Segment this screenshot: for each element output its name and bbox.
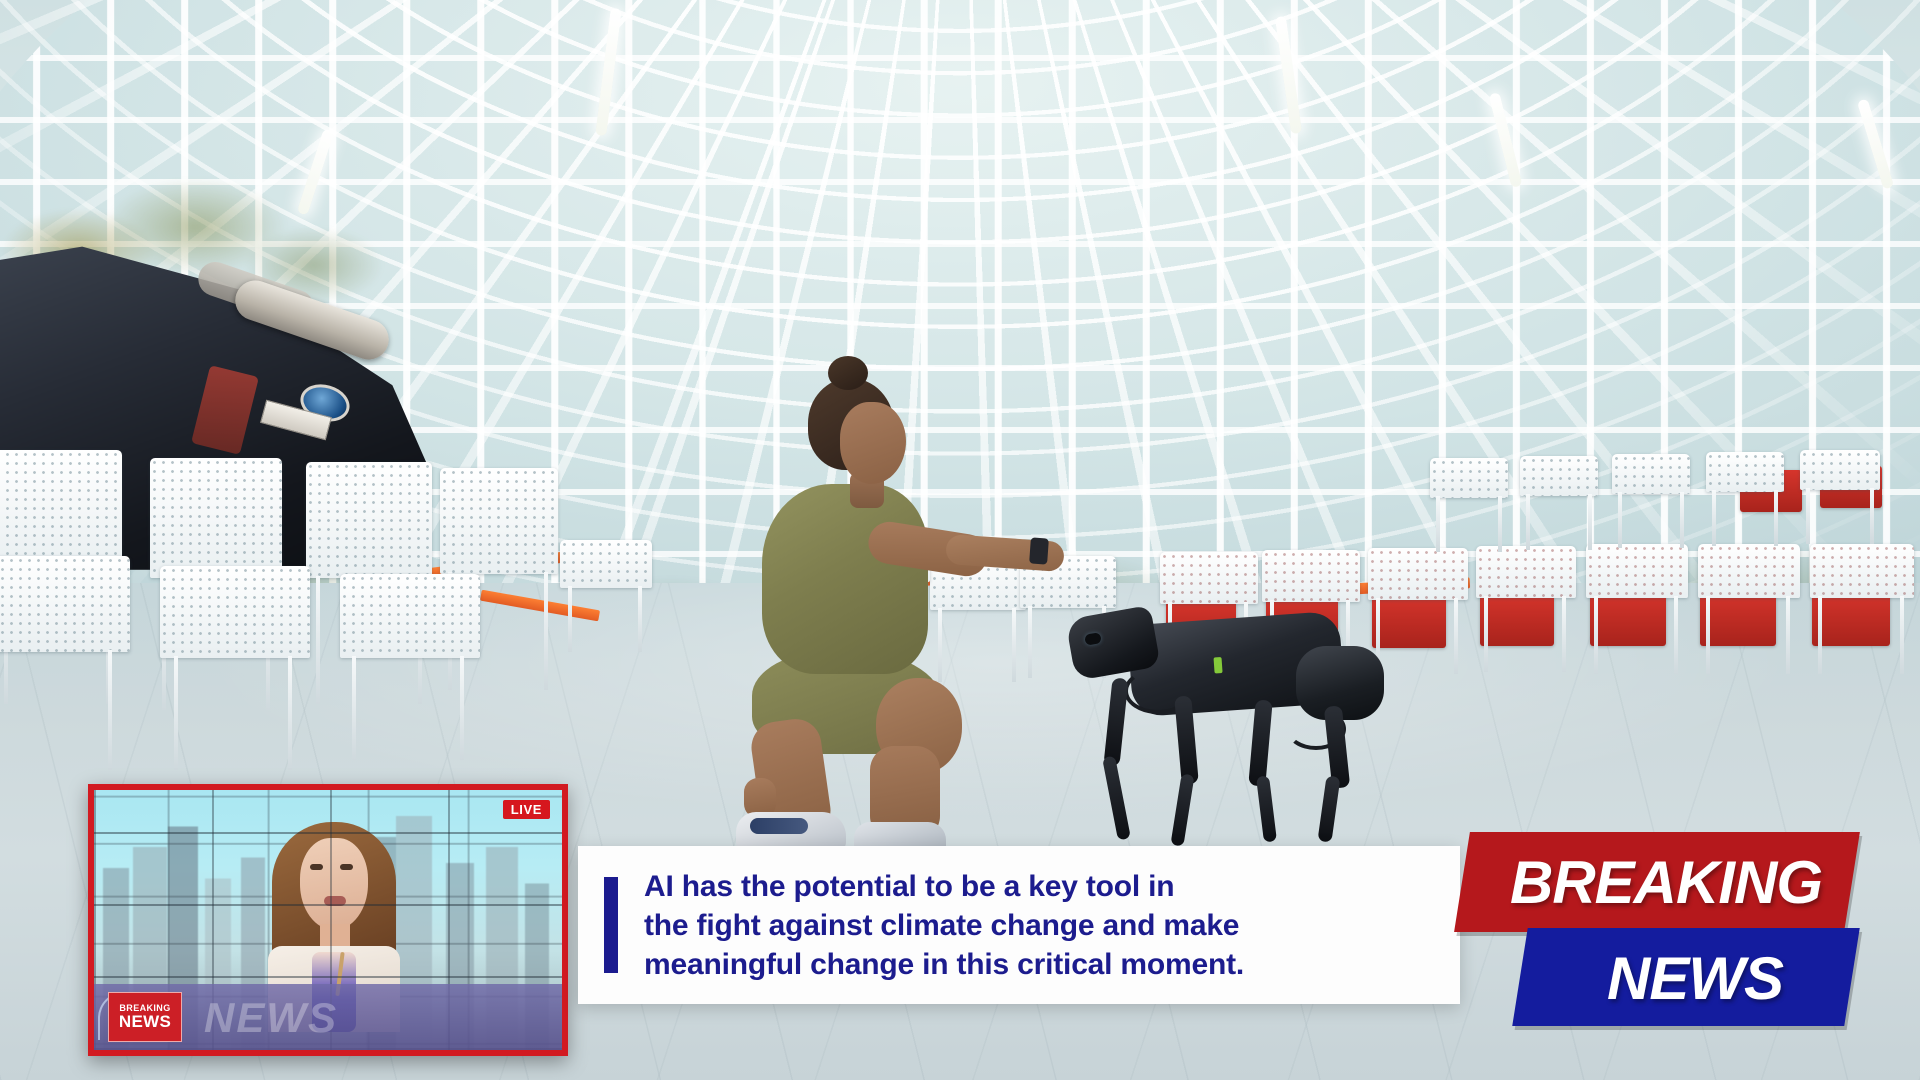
pip-badge-line2: NEWS — [119, 1013, 171, 1030]
broadcast-screen: NEWS BREAKING NEWS LIVE AI has the poten… — [0, 0, 1920, 1080]
red-seat — [1700, 590, 1776, 646]
caption-text: AI has the potential to be a key tool in… — [644, 867, 1244, 984]
caption-line-2: the fight against climate change and mak… — [644, 906, 1244, 945]
caption-accent-bar — [604, 877, 618, 973]
red-seat — [1480, 592, 1554, 646]
red-seat — [1590, 590, 1666, 646]
caption-line-3: meaningful change in this critical momen… — [644, 945, 1244, 984]
caption-line-1: AI has the potential to be a key tool in — [644, 867, 1244, 906]
crouching-woman — [700, 360, 1000, 820]
breaking-label: BREAKING — [1480, 838, 1852, 926]
studio-news-desk: NEWS BREAKING NEWS — [94, 984, 562, 1050]
quadruped-robot-dog — [1070, 600, 1390, 850]
live-badge: LIVE — [503, 800, 550, 819]
breaking-news-badge: BREAKING NEWS — [1452, 832, 1852, 1030]
pip-breaking-news-badge: BREAKING NEWS — [108, 992, 182, 1042]
desk-ghost-text: NEWS — [204, 994, 338, 1042]
pip-studio-feed[interactable]: NEWS BREAKING NEWS LIVE — [88, 784, 568, 1056]
lower-third-caption: AI has the potential to be a key tool in… — [578, 846, 1460, 1004]
red-seat — [1812, 590, 1890, 646]
news-label: NEWS — [1538, 936, 1852, 1020]
